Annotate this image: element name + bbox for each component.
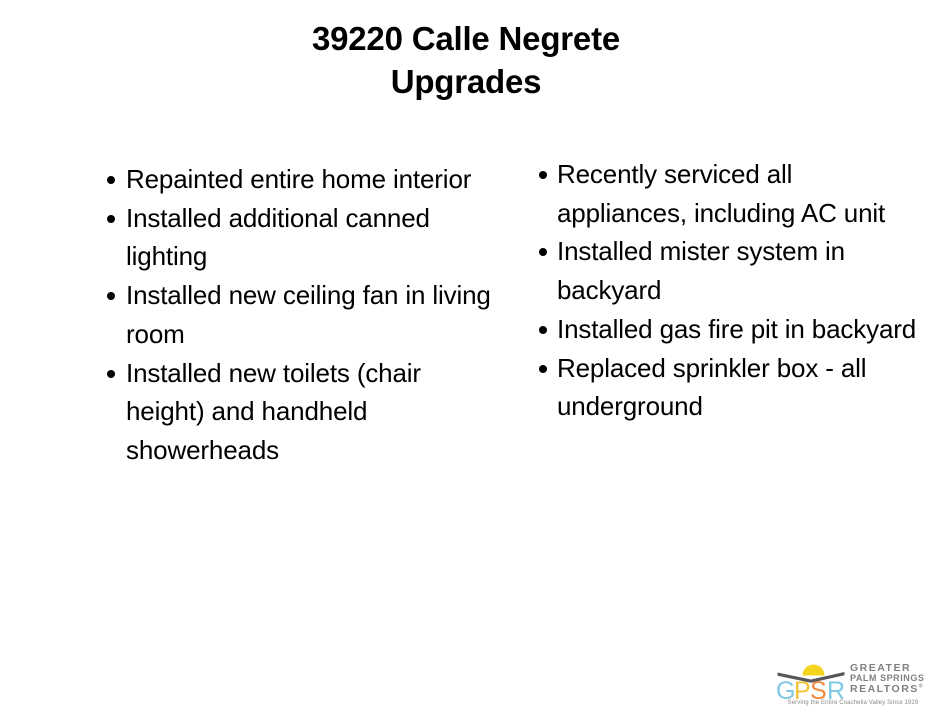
bullet-dot-icon <box>539 248 547 256</box>
bullet-dot-icon <box>539 365 547 373</box>
bullet-dot-icon <box>107 370 115 378</box>
bullet-dot-icon <box>107 176 115 184</box>
list-item-label: Installed mister system in backyard <box>557 236 845 305</box>
content-columns: Repainted entire home interior Installed… <box>0 0 932 720</box>
logo-letter-s: S <box>810 677 827 702</box>
bullet-dot-icon <box>539 326 547 334</box>
right-bullet-list: Recently serviced all appliances, includ… <box>537 155 917 426</box>
gpsr-logo: G P S R GREATER PALM SPRINGS REALTORS® S… <box>776 656 928 714</box>
list-item: Installed gas fire pit in backyard <box>537 310 917 349</box>
list-item-label: Installed new ceiling fan in living room <box>126 280 491 349</box>
wordmark-realtors-text: REALTORS <box>850 683 919 695</box>
logo-letter-r: R <box>827 677 845 702</box>
gpsr-tagline: Serving the Entire Coachella Valley Sinc… <box>778 700 928 706</box>
logo-letter-p: P <box>794 677 811 702</box>
list-item: Installed new toilets (chair height) and… <box>104 354 504 470</box>
wordmark-line-realtors: REALTORS® <box>850 684 928 695</box>
logo-letter-g: G <box>776 677 795 702</box>
right-column: Recently serviced all appliances, includ… <box>537 155 917 426</box>
list-item: Repainted entire home interior <box>104 160 504 199</box>
list-item: Installed new ceiling fan in living room <box>104 276 504 353</box>
bullet-dot-icon <box>107 292 115 300</box>
list-item-label: Installed gas fire pit in backyard <box>557 314 916 344</box>
list-item: Replaced sprinkler box - all underground <box>537 349 917 426</box>
list-item-label: Repainted entire home interior <box>126 164 471 194</box>
list-item-label: Recently serviced all appliances, includ… <box>557 159 885 228</box>
bullet-dot-icon <box>107 215 115 223</box>
slide-canvas: 39220 Calle Negrete Upgrades Repainted e… <box>0 0 932 720</box>
list-item-label: Replaced sprinkler box - all underground <box>557 353 866 422</box>
gpsr-wordmark: GREATER PALM SPRINGS REALTORS® <box>850 663 928 695</box>
list-item: Installed additional canned lighting <box>104 199 504 276</box>
bullet-dot-icon <box>539 171 547 179</box>
sun-icon <box>803 665 825 676</box>
list-item: Recently serviced all appliances, includ… <box>537 155 917 232</box>
left-column: Repainted entire home interior Installed… <box>104 160 504 470</box>
left-bullet-list: Repainted entire home interior Installed… <box>104 160 504 470</box>
registered-mark: ® <box>919 684 924 690</box>
list-item-label: Installed additional canned lighting <box>126 203 430 272</box>
list-item-label: Installed new toilets (chair height) and… <box>126 358 421 465</box>
list-item: Installed mister system in backyard <box>537 232 917 309</box>
gpsr-logo-mark-icon: G P S R <box>776 656 846 702</box>
